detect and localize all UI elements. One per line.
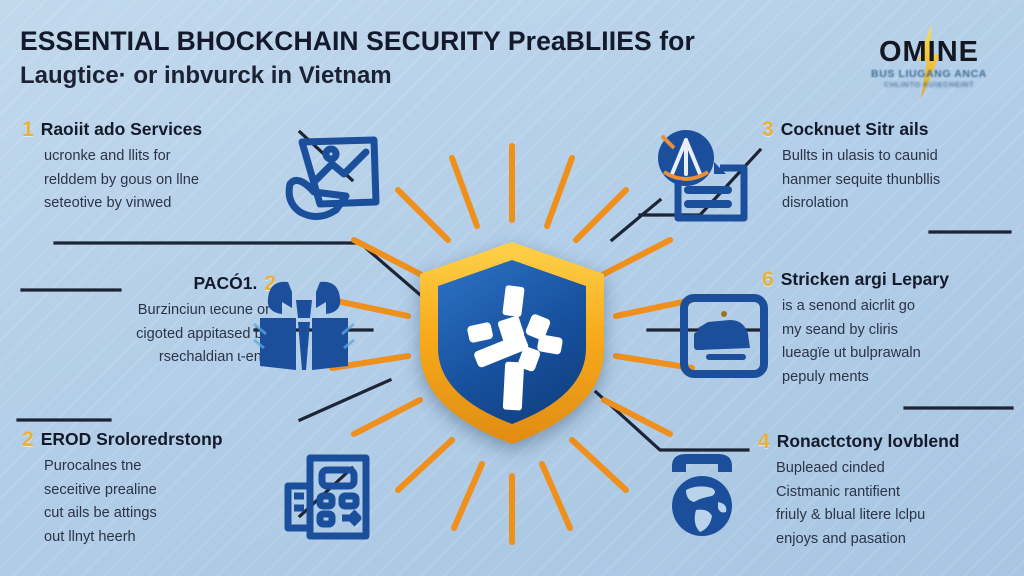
logo-wordmark: OMINE <box>856 36 1002 69</box>
item-body: Bupleaed cinded Cistmanic rantifient fri… <box>758 457 1008 551</box>
globe-icon <box>656 446 748 542</box>
item-body: Purocalnes tne seceitive prealine cut ai… <box>22 455 284 549</box>
item-number: 6 <box>762 268 774 292</box>
item-number: 2 <box>22 428 34 452</box>
page-title: ESSENTIAL BHOCKCHAIN SECURITY PreaBLIIES… <box>20 24 780 92</box>
item-title: Cocknuet Sitr ails <box>781 118 929 141</box>
truck-frame-icon <box>678 292 770 382</box>
title-line-2: Laugtice· or inbvurck in Vietnam <box>20 60 780 92</box>
title-line-1-bold: ESSENTIAL BHOCKCHAIN SECURITY <box>20 26 508 56</box>
central-shield-emblem <box>412 238 612 448</box>
list-item[interactable]: 1 Raoiit ado Services ucronke and llits … <box>22 118 284 216</box>
compass-document-icon <box>648 128 754 224</box>
logo-subtitle-2: CHLINTO KUIECHEINT <box>856 80 1002 89</box>
list-item[interactable]: 3 Cocknuet Sitr ails Bullts in ulasis to… <box>762 118 1012 216</box>
item-number: 4 <box>758 430 770 454</box>
item-number: 1 <box>22 118 34 142</box>
item-body: Burzinciun ɩecune or cigoted appitased b… <box>8 299 276 370</box>
item-title: Stricken argi Lepary <box>781 268 949 291</box>
list-item[interactable]: 6 Stricken argi Lepary is a senond aicrl… <box>762 268 1012 389</box>
calculator-icon <box>282 452 378 544</box>
item-number: 3 <box>762 118 774 142</box>
item-body: Bullts in ulasis to caunid hanmer sequit… <box>762 145 1012 216</box>
list-item[interactable]: 2 EROD Sroloredrstonp Purocalnes tne sec… <box>22 428 284 549</box>
title-line-1-rest: PreaBLIIES for <box>508 26 695 56</box>
list-item[interactable]: 4 Ronactctony lovblend Bupleaed cinded C… <box>758 430 1008 551</box>
list-item[interactable]: PACÓ1. 2 Burzinciun ɩecune or cigoted ap… <box>8 272 276 370</box>
item-title: EROD Sroloredrstonp <box>41 428 223 451</box>
shield-icon <box>412 238 612 448</box>
item-title: Ronactctony lovblend <box>777 430 960 453</box>
item-title: PACÓ1. <box>193 272 257 295</box>
title-line-1: ESSENTIAL BHOCKCHAIN SECURITY PreaBLIIES… <box>20 24 780 58</box>
infographic-canvas: ESSENTIAL BHOCKCHAIN SECURITY PreaBLIIES… <box>0 0 1024 576</box>
item-body: ucronke and llits for relddem by gous on… <box>22 145 284 216</box>
open-book-icon <box>252 278 356 374</box>
item-body: is a senond aicrlit go my seand by cliri… <box>762 295 1012 389</box>
brand-logo: OMINE BUS LIUGANG ANCA CHLINTO KUIECHEIN… <box>856 28 1002 96</box>
chart-document-icon <box>284 130 390 222</box>
logo-subtitle-1: BUS LIUGANG ANCA <box>856 68 1002 80</box>
item-title: Raoiit ado Services <box>41 118 202 141</box>
